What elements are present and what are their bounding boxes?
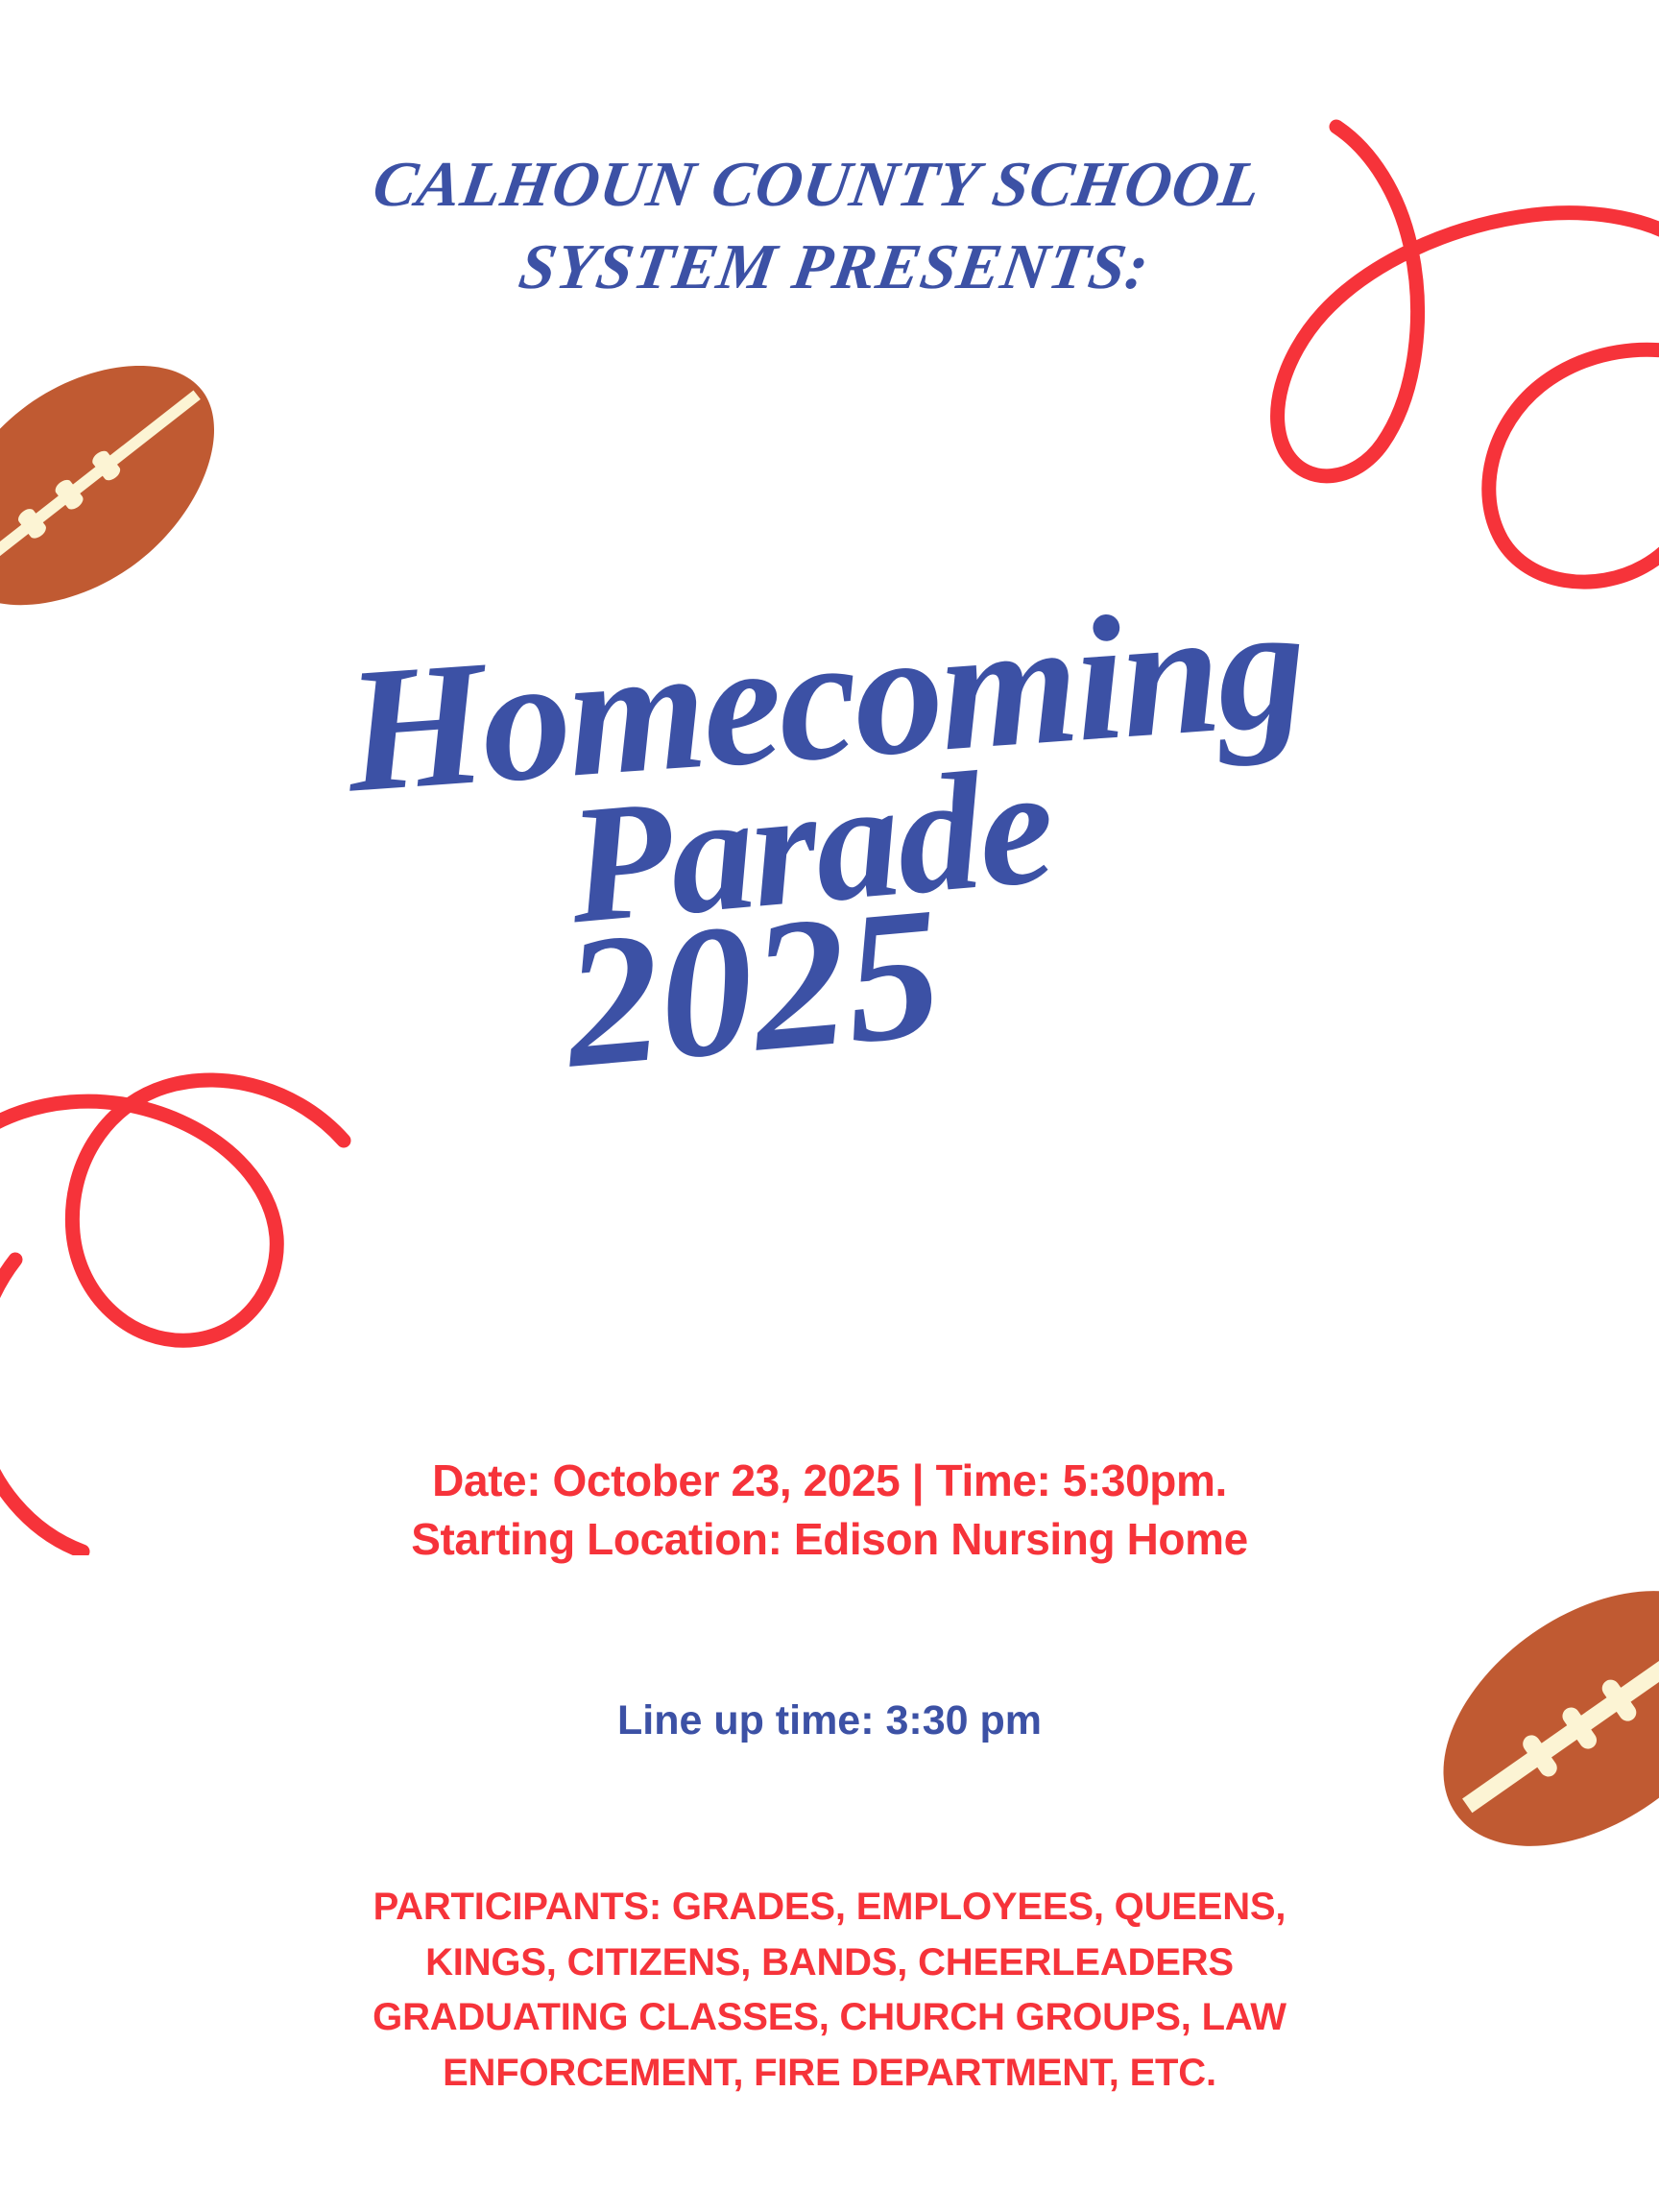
football-icon bbox=[0, 317, 248, 653]
participants-line-1: PARTICIPANTS: GRADES, EMPLOYEES, QUEENS, bbox=[0, 1880, 1659, 1935]
participants-block: PARTICIPANTS: GRADES, EMPLOYEES, QUEENS,… bbox=[0, 1880, 1659, 2101]
presents-header: CALHOUN COUNTY SCHOOL SYSTEM PRESENTS: bbox=[0, 144, 1659, 309]
event-datetime-block: Date: October 23, 2025 | Time: 5:30pm. S… bbox=[0, 1452, 1659, 1568]
lineup-time: Line up time: 3:30 pm bbox=[0, 1697, 1659, 1744]
participants-line-2: KINGS, CITIZENS, BANDS, CHEERLEADERS bbox=[0, 1935, 1659, 1991]
participants-line-3: GRADUATING CLASSES, CHURCH GROUPS, LAW bbox=[0, 1990, 1659, 2046]
presents-line-2: SYSTEM PRESENTS: bbox=[3, 227, 1659, 309]
homecoming-parade-flyer: CALHOUN COUNTY SCHOOL SYSTEM PRESENTS: H… bbox=[0, 0, 1659, 2212]
presents-line-1: CALHOUN COUNTY SCHOOL bbox=[0, 144, 1659, 227]
event-location: Starting Location: Edison Nursing Home bbox=[0, 1510, 1659, 1569]
page-title: Homecoming Parade 2025 bbox=[0, 614, 1659, 1068]
participants-line-4: ENFORCEMENT, FIRE DEPARTMENT, ETC. bbox=[0, 2046, 1659, 2102]
event-date-time: Date: October 23, 2025 | Time: 5:30pm. bbox=[0, 1452, 1659, 1510]
